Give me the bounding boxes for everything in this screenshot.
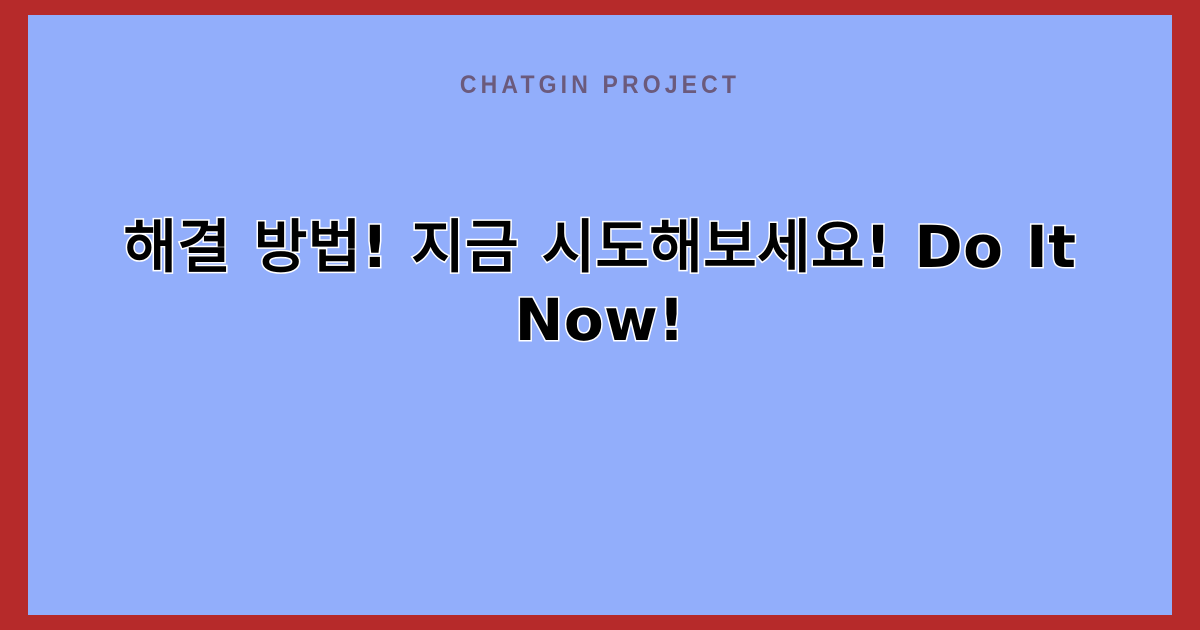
title-block: 해결 방법! 지금 시도해보세요! Do It Now! bbox=[28, 211, 1172, 357]
page-title: 해결 방법! 지금 시도해보세요! Do It Now! bbox=[88, 211, 1112, 357]
social-card: CHATGIN PROJECT 해결 방법! 지금 시도해보세요! Do It … bbox=[0, 0, 1200, 630]
card-panel: CHATGIN PROJECT 해결 방법! 지금 시도해보세요! Do It … bbox=[28, 15, 1172, 615]
project-eyebrow-label: CHATGIN PROJECT bbox=[74, 73, 1126, 98]
